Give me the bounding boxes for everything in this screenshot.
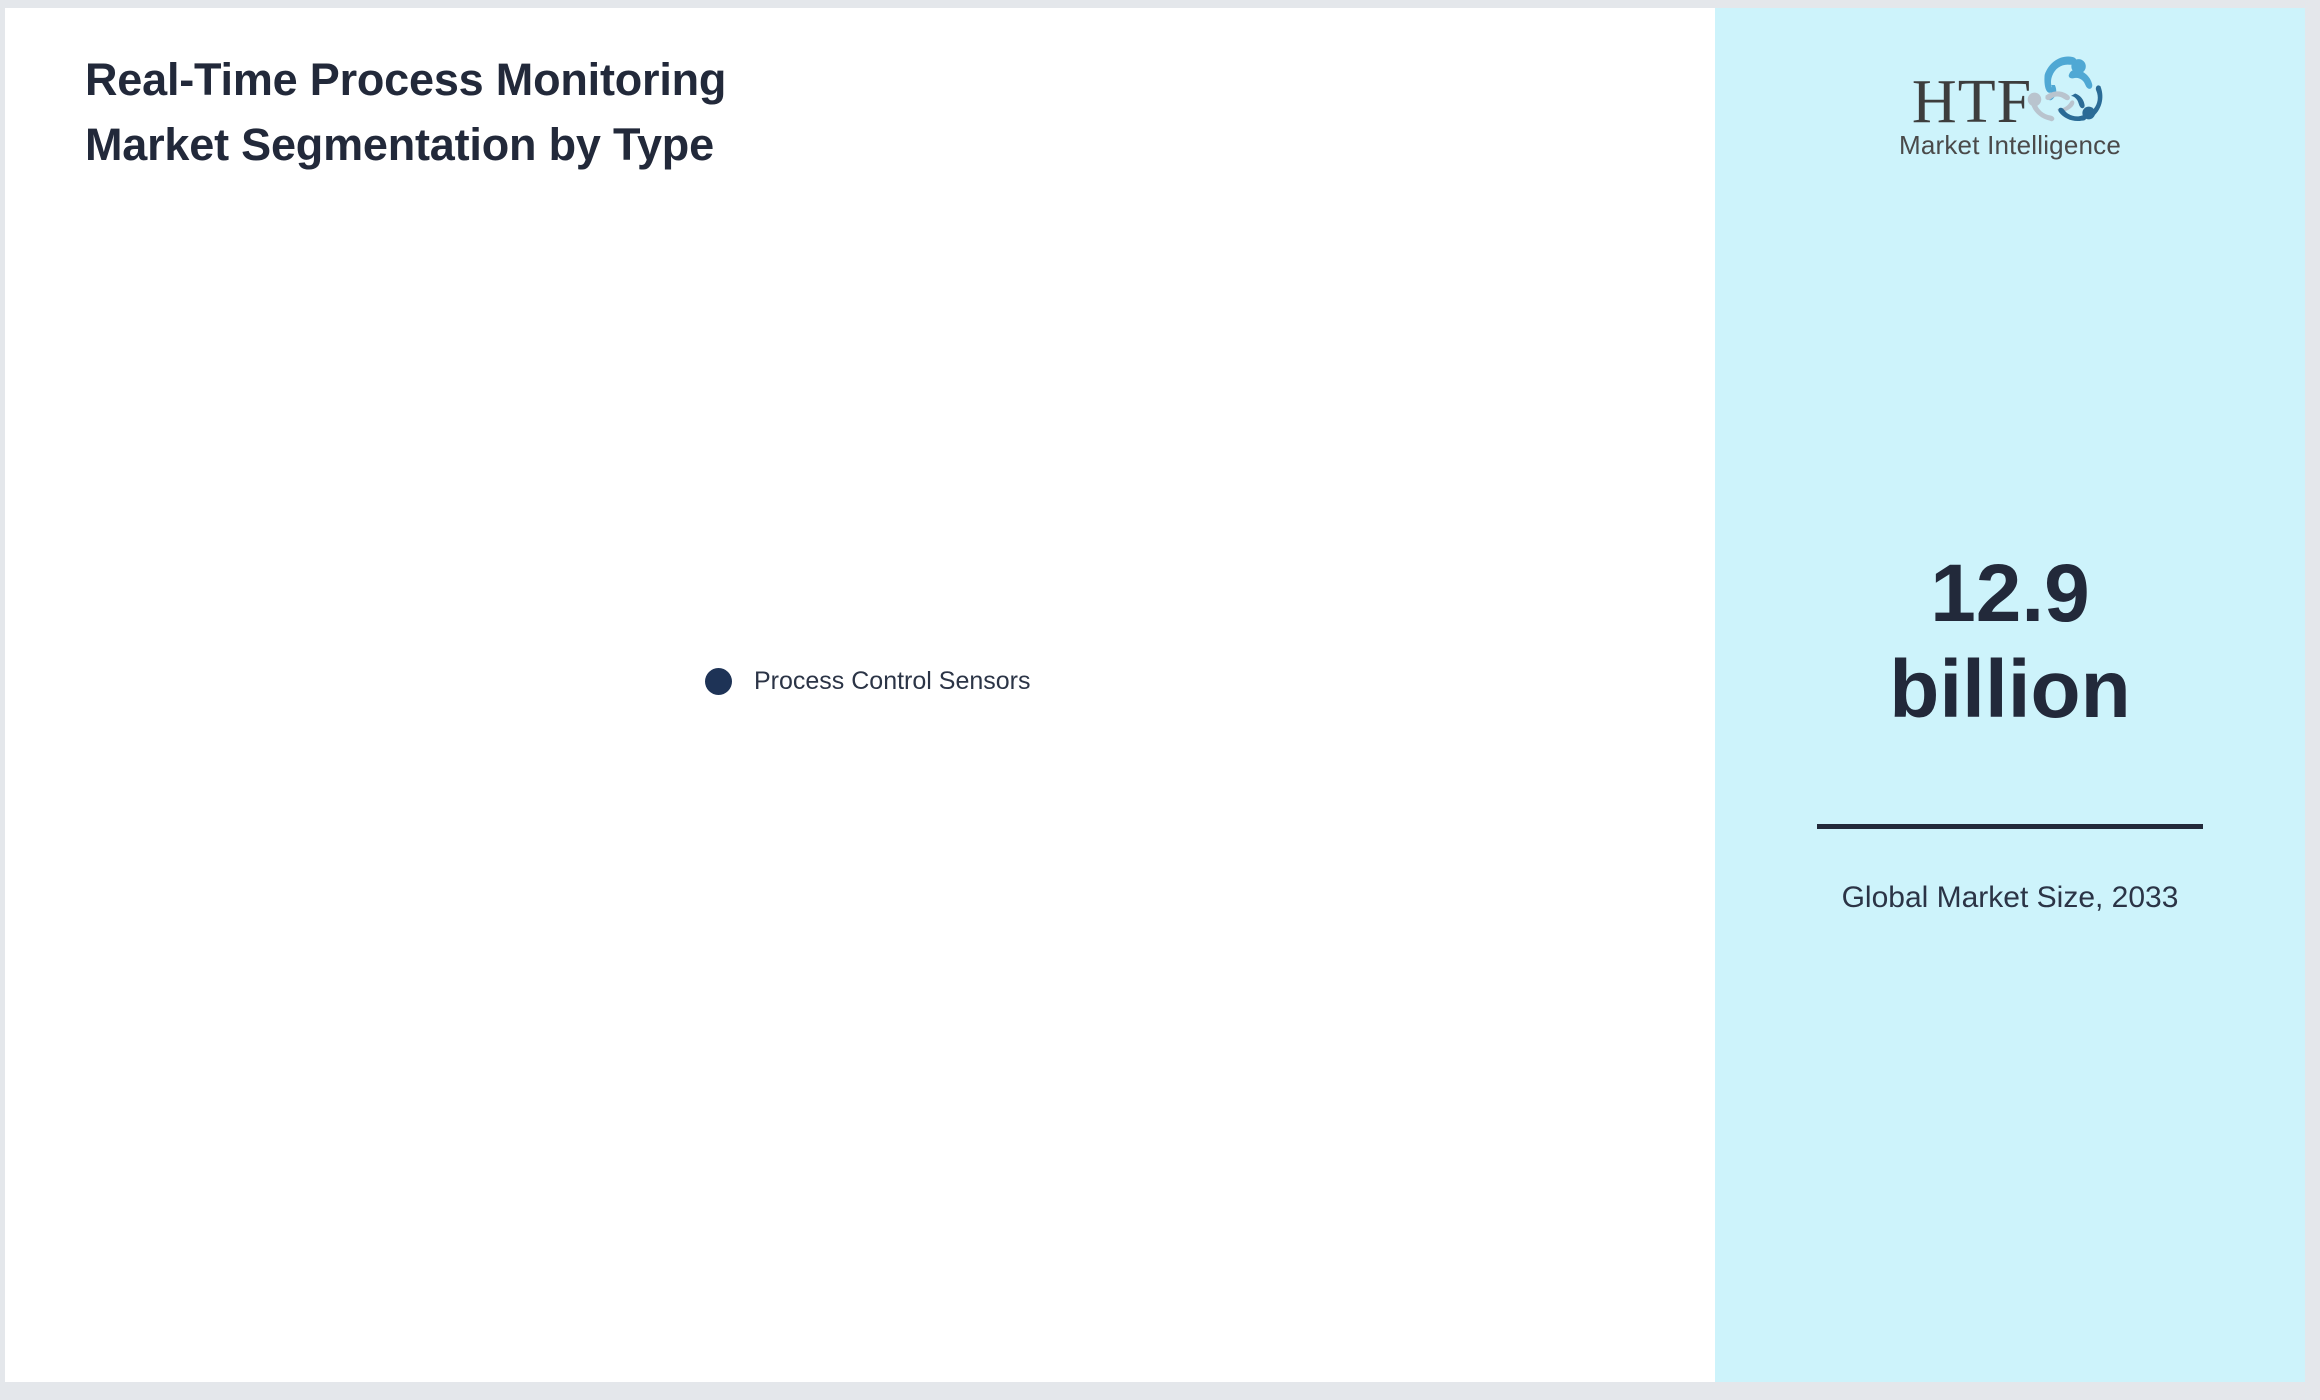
logo-wordmark: HTF xyxy=(1912,73,2032,132)
legend-item-process-control-sensors[interactable]: Process Control Sensors xyxy=(705,668,1031,695)
legend-swatch-icon xyxy=(705,668,732,695)
market-size-caption: Global Market Size, 2033 xyxy=(1775,876,2245,920)
brand-logo[interactable]: HTF xyxy=(1715,56,2305,161)
logo-mark: HTF xyxy=(1912,56,2108,128)
legend-item-label: Process Control Sensors xyxy=(754,669,1031,694)
market-size-value: 12.9 billion xyxy=(1745,546,2275,738)
pie-chart-plot-area: Process Control Sensors xyxy=(85,218,1645,1338)
infographic-card: Real-Time Process Monitoring Market Segm… xyxy=(5,8,2305,1382)
page-title: Real-Time Process Monitoring Market Segm… xyxy=(85,48,1185,178)
chart-panel: Real-Time Process Monitoring Market Segm… xyxy=(5,8,1715,1382)
stat-divider xyxy=(1817,824,2203,829)
stat-panel: HTF xyxy=(1715,8,2305,1382)
htf-triskelion-figures-icon xyxy=(2022,46,2108,124)
chart-legend: Process Control Sensors xyxy=(705,668,1031,695)
